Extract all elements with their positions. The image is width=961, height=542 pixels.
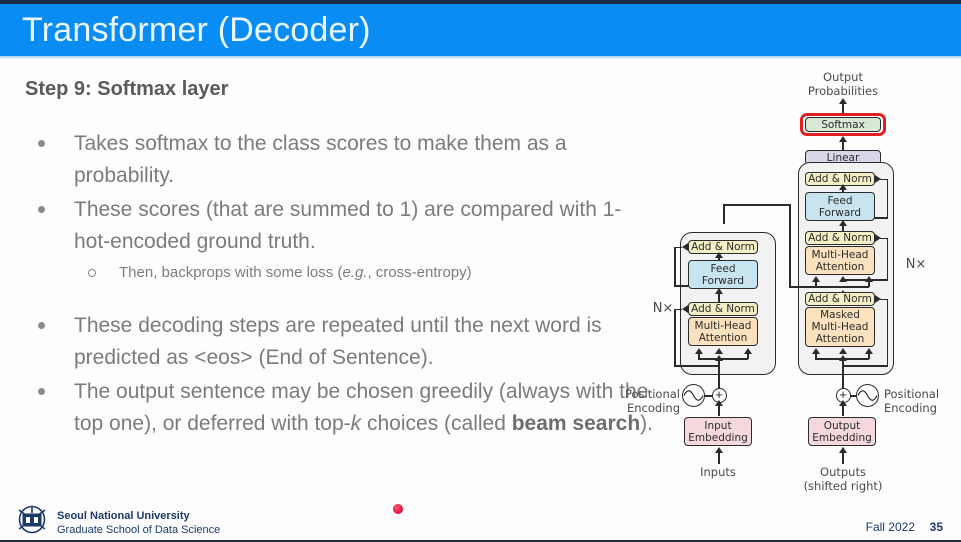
step-heading: Step 9: Softmax layer <box>25 78 228 101</box>
residual-line <box>842 365 887 367</box>
arrow-head-icon <box>839 220 847 226</box>
transformer-diagram: OutputProbabilities Softmax Linear Add &… <box>648 62 961 500</box>
output-embedding-block: OutputEmbedding <box>808 417 876 446</box>
arrow-head-icon <box>839 98 847 104</box>
arrow-head-icon <box>839 348 847 354</box>
output-probabilities-label: OutputProbabilities <box>788 70 898 98</box>
decoder-add-norm-1: Add & Norm <box>805 292 875 306</box>
outputs-label: Outputs(shifted right) <box>798 465 888 493</box>
sub-bullet-italic: e.g. <box>342 264 367 281</box>
encoder-input-line <box>718 358 720 389</box>
decoder-nx-label: N× <box>903 258 929 272</box>
arrow-head-icon <box>839 136 847 142</box>
encoder-to-decoder-link <box>789 204 791 287</box>
softmax-block: Softmax <box>805 117 881 132</box>
residual-line <box>887 299 889 367</box>
laser-pointer-dot <box>393 504 403 514</box>
bullet-item: Takes softmax to the class scores to mak… <box>26 128 656 192</box>
residual-line <box>674 365 719 367</box>
sub-bullet-ring-icon <box>88 269 96 277</box>
footer-term: Fall 2022 <box>866 520 915 534</box>
title-underline <box>0 56 961 59</box>
bullet-bold-term: beam search <box>512 412 640 435</box>
encoder-positional-encoding-label: PositionalEncoding <box>610 387 680 415</box>
encoder-to-decoder-link <box>723 204 790 206</box>
bullet-text-mid: choices (called <box>361 412 512 435</box>
bullet-dot-icon <box>38 322 45 329</box>
arrow-head-icon <box>839 276 847 282</box>
masked-multi-head-attention: MaskedMulti-HeadAttention <box>805 307 875 347</box>
footer-page-number: 35 <box>930 520 943 534</box>
inputs-label: Inputs <box>688 465 748 479</box>
bullet-dot-icon <box>38 388 45 395</box>
decoder-input-line <box>842 358 844 389</box>
arrow-head-icon <box>715 355 723 361</box>
arrow-head-icon <box>715 288 723 294</box>
arrow-head-icon <box>839 400 847 406</box>
bullet-italic-k: k <box>351 412 362 435</box>
encoder-to-decoder-link <box>789 286 869 288</box>
sine-wave-icon <box>856 384 879 407</box>
arrow-head-icon <box>839 447 847 453</box>
arrow-head-icon <box>715 400 723 406</box>
arrow-head-icon <box>839 184 847 190</box>
residual-line <box>887 179 889 219</box>
bullet-item: The output sentence may be chosen greedi… <box>26 376 656 440</box>
qkv-line <box>698 358 748 360</box>
sine-wave-icon <box>682 384 705 407</box>
slide-title-bar: Transformer (Decoder) <box>0 4 961 56</box>
footer-school: Graduate School of Data Science <box>57 524 220 536</box>
sub-bullet-text-before: Then, backprops with some loss ( <box>119 264 342 281</box>
encoder-add-norm-2: Add & Norm <box>688 240 758 254</box>
encoder-nx-label: N× <box>650 302 676 316</box>
bullet-item: These decoding steps are repeated until … <box>26 310 656 374</box>
posenc-link-line <box>850 395 857 397</box>
bullet-item: These scores (that are summed to 1) are … <box>26 194 656 258</box>
bullet-group-spacer <box>26 286 656 310</box>
decoder-multi-head-attention: Multi-HeadAttention <box>805 246 875 275</box>
decoder-feed-forward: FeedForward <box>805 192 875 221</box>
decoder-add-norm-2: Add & Norm <box>805 231 875 245</box>
arrow-head-icon <box>682 243 688 251</box>
bullet-text: These decoding steps are repeated until … <box>74 314 602 369</box>
slide-title: Transformer (Decoder) <box>22 7 371 53</box>
encoder-add-norm-1: Add & Norm <box>688 302 758 316</box>
arrow-head-icon <box>715 252 723 258</box>
bullet-list: Takes softmax to the class scores to mak… <box>26 128 656 442</box>
encoder-feed-forward: FeedForward <box>688 260 758 289</box>
sub-bullet-item: Then, backprops with some loss (e.g., cr… <box>26 260 656 286</box>
bullet-text: These scores (that are summed to 1) are … <box>74 198 621 253</box>
residual-line <box>887 238 889 281</box>
posenc-link-line <box>704 395 712 397</box>
encoder-multi-head-attention: Multi-HeadAttention <box>688 317 758 346</box>
bullet-dot-icon <box>38 140 45 147</box>
arrow-head-icon <box>715 447 723 453</box>
arrow-head-icon <box>682 305 688 313</box>
encoder-to-decoder-link <box>723 204 725 224</box>
arrow-head-icon <box>715 348 723 354</box>
sub-bullet-text-after: , cross-entropy) <box>367 264 471 281</box>
input-embedding-block: InputEmbedding <box>684 417 752 446</box>
residual-line <box>674 247 676 287</box>
footer-university: Seoul National University <box>57 510 190 522</box>
decoder-positional-encoding-label: PositionalEncoding <box>884 387 956 415</box>
slide-root: Transformer (Decoder) Step 9: Softmax la… <box>0 0 961 542</box>
bullet-dot-icon <box>38 206 45 213</box>
bullet-text: Takes softmax to the class scores to mak… <box>74 132 567 187</box>
snu-logo-icon <box>14 504 50 534</box>
arrow-head-icon <box>839 355 847 361</box>
residual-line <box>674 309 676 367</box>
